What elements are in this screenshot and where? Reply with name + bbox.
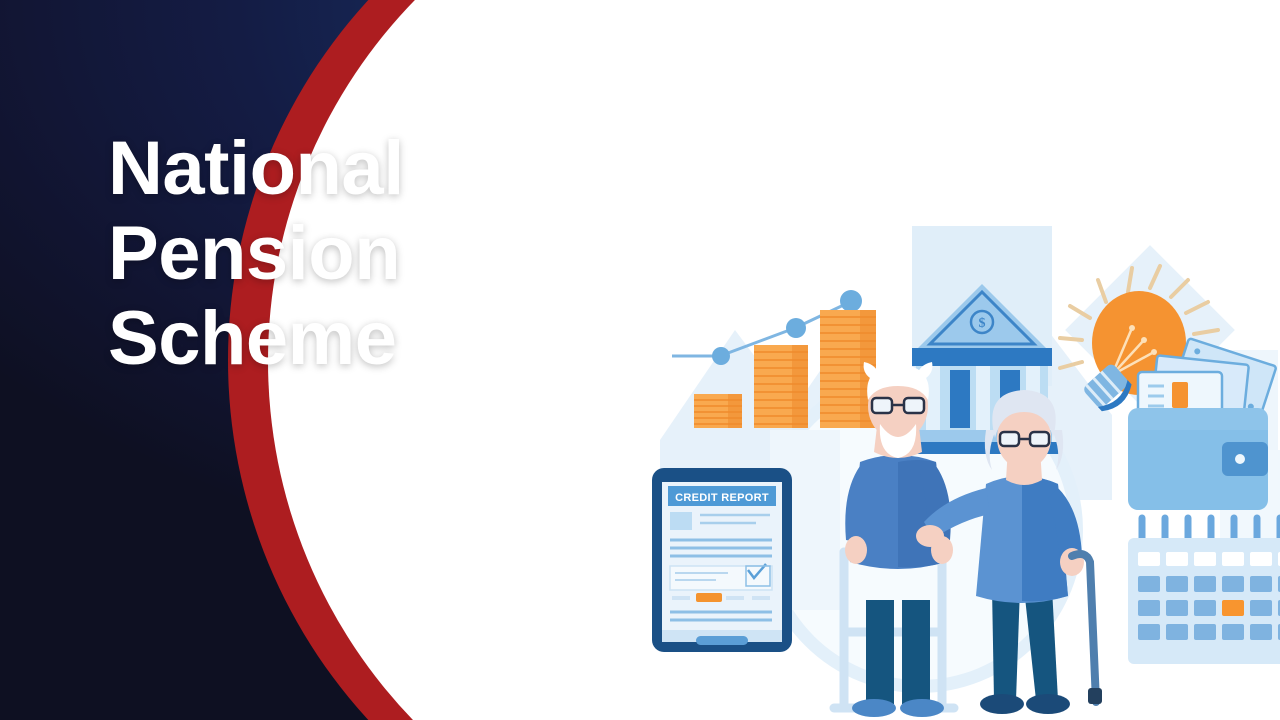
page-title-line-2: Pension	[108, 211, 528, 296]
coin-stack-2	[754, 345, 808, 428]
credit-report-title: CREDIT REPORT	[675, 492, 769, 504]
woman-hand-left	[916, 525, 944, 547]
tablet-home-button	[696, 636, 748, 645]
growth-point-1	[712, 347, 730, 365]
credit-report-tablet: CREDIT REPORT	[652, 468, 792, 652]
page-title-line-1: National	[108, 126, 528, 211]
national-pension-scheme-banner: National Pension Scheme	[0, 0, 1280, 720]
man-shoe-right	[900, 699, 944, 717]
svg-text:$: $	[979, 316, 986, 331]
woman-shoe-left	[980, 694, 1024, 714]
bank-architrave	[912, 348, 1052, 366]
calendar-date-cells	[1138, 576, 1280, 640]
man-leg-right	[902, 600, 930, 704]
page-title: National Pension Scheme	[108, 126, 528, 381]
man-hand-left	[845, 536, 867, 564]
bank-column-3	[976, 366, 990, 430]
calendar-header-row	[1138, 552, 1280, 566]
man-shoe-left	[852, 699, 896, 717]
page-title-line-3: Scheme	[108, 296, 528, 381]
coin-growth-chart	[672, 290, 876, 428]
coin-stack-1	[694, 394, 742, 428]
man-leg-left	[866, 600, 894, 704]
bank-column-2	[950, 370, 970, 428]
woman-shoe-right	[1026, 694, 1070, 714]
growth-point-3	[840, 290, 862, 312]
card-chip	[1172, 382, 1188, 408]
walking-cane	[1072, 554, 1102, 704]
calendar-highlighted-day	[1222, 600, 1244, 616]
calendar	[1128, 518, 1280, 664]
growth-point-2	[786, 318, 806, 338]
tablet-orange-bar	[696, 593, 722, 602]
retirement-illustration: $	[620, 200, 1280, 720]
